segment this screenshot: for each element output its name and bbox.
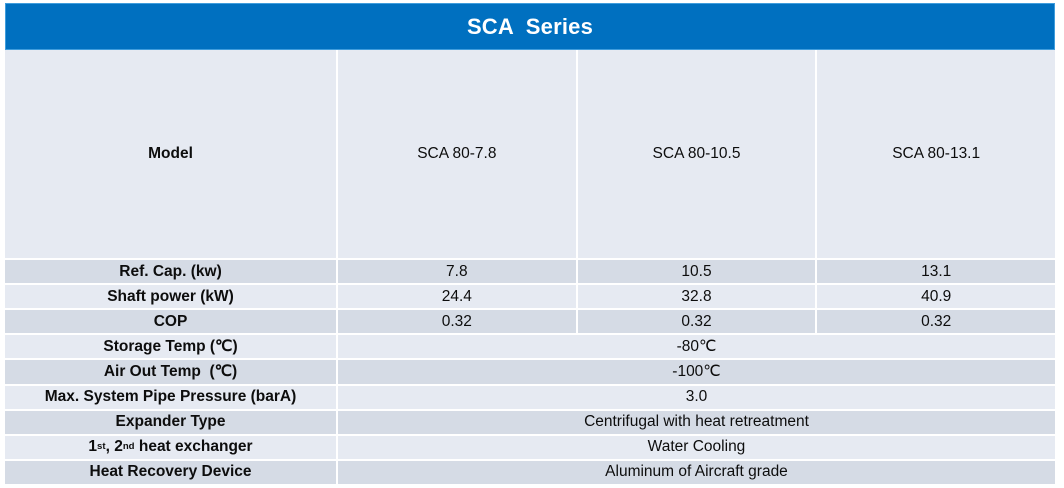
- table-row: Heat Recovery DeviceAluminum of Aircraft…: [5, 461, 1055, 484]
- row-value-merged: 3.0: [338, 386, 1055, 409]
- row-label-model: Model: [5, 50, 338, 258]
- table-row: Ref. Cap. (kw)7.810.513.1: [5, 260, 1055, 285]
- cell-model-3: SCA 80-13.1: [817, 50, 1055, 258]
- row-value-merged: -100℃: [338, 360, 1055, 383]
- cell-model-2: SCA 80-10.5: [578, 50, 818, 258]
- table-row-model: Model SCA 80-7.8 SCA 80-10.5 SCA 80-13.1: [5, 50, 1055, 260]
- row-label: COP: [5, 310, 338, 333]
- row-value-merged: -80℃: [338, 335, 1055, 358]
- row-label: Shaft power (kW): [5, 285, 338, 308]
- row-value-2: 10.5: [578, 260, 818, 283]
- row-label: Air Out Temp (℃): [5, 360, 338, 383]
- table-row: Shaft power (kW)24.432.840.9: [5, 285, 1055, 310]
- row-value-3: 0.32: [817, 310, 1055, 333]
- row-label: Heat Recovery Device: [5, 461, 338, 484]
- row-value-3: 40.9: [817, 285, 1055, 308]
- table-row: Expander TypeCentrifugal with heat retre…: [5, 411, 1055, 436]
- table-row: Max. System Pipe Pressure (barA)3.0: [5, 386, 1055, 411]
- row-value-2: 32.8: [578, 285, 818, 308]
- table-row: Air Out Temp (℃)-100℃: [5, 360, 1055, 385]
- row-value-merged: Aluminum of Aircraft grade: [338, 461, 1055, 484]
- table-row: Storage Temp (℃)-80℃: [5, 335, 1055, 360]
- row-value-merged: Centrifugal with heat retreatment: [338, 411, 1055, 434]
- table-row: 1st, 2nd heat exchangerWater Cooling: [5, 436, 1055, 461]
- row-value-merged: Water Cooling: [338, 436, 1055, 459]
- table-body: Ref. Cap. (kw)7.810.513.1Shaft power (kW…: [5, 260, 1055, 484]
- page-title: SCA Series: [467, 14, 593, 40]
- row-value-3: 13.1: [817, 260, 1055, 283]
- row-label: Storage Temp (℃): [5, 335, 338, 358]
- row-label: Ref. Cap. (kw): [5, 260, 338, 283]
- table-row: COP0.320.320.32: [5, 310, 1055, 335]
- row-value-1: 0.32: [338, 310, 578, 333]
- cell-model-1: SCA 80-7.8: [338, 50, 578, 258]
- row-value-1: 24.4: [338, 285, 578, 308]
- row-label: 1st, 2nd heat exchanger: [5, 436, 338, 459]
- row-label: Max. System Pipe Pressure (barA): [5, 386, 338, 409]
- specification-table: SCA Series Model SCA 80-7.8 SCA 80-10.5 …: [5, 3, 1055, 484]
- row-value-2: 0.32: [578, 310, 818, 333]
- row-value-1: 7.8: [338, 260, 578, 283]
- row-label: Expander Type: [5, 411, 338, 434]
- table-header-banner: SCA Series: [5, 3, 1055, 50]
